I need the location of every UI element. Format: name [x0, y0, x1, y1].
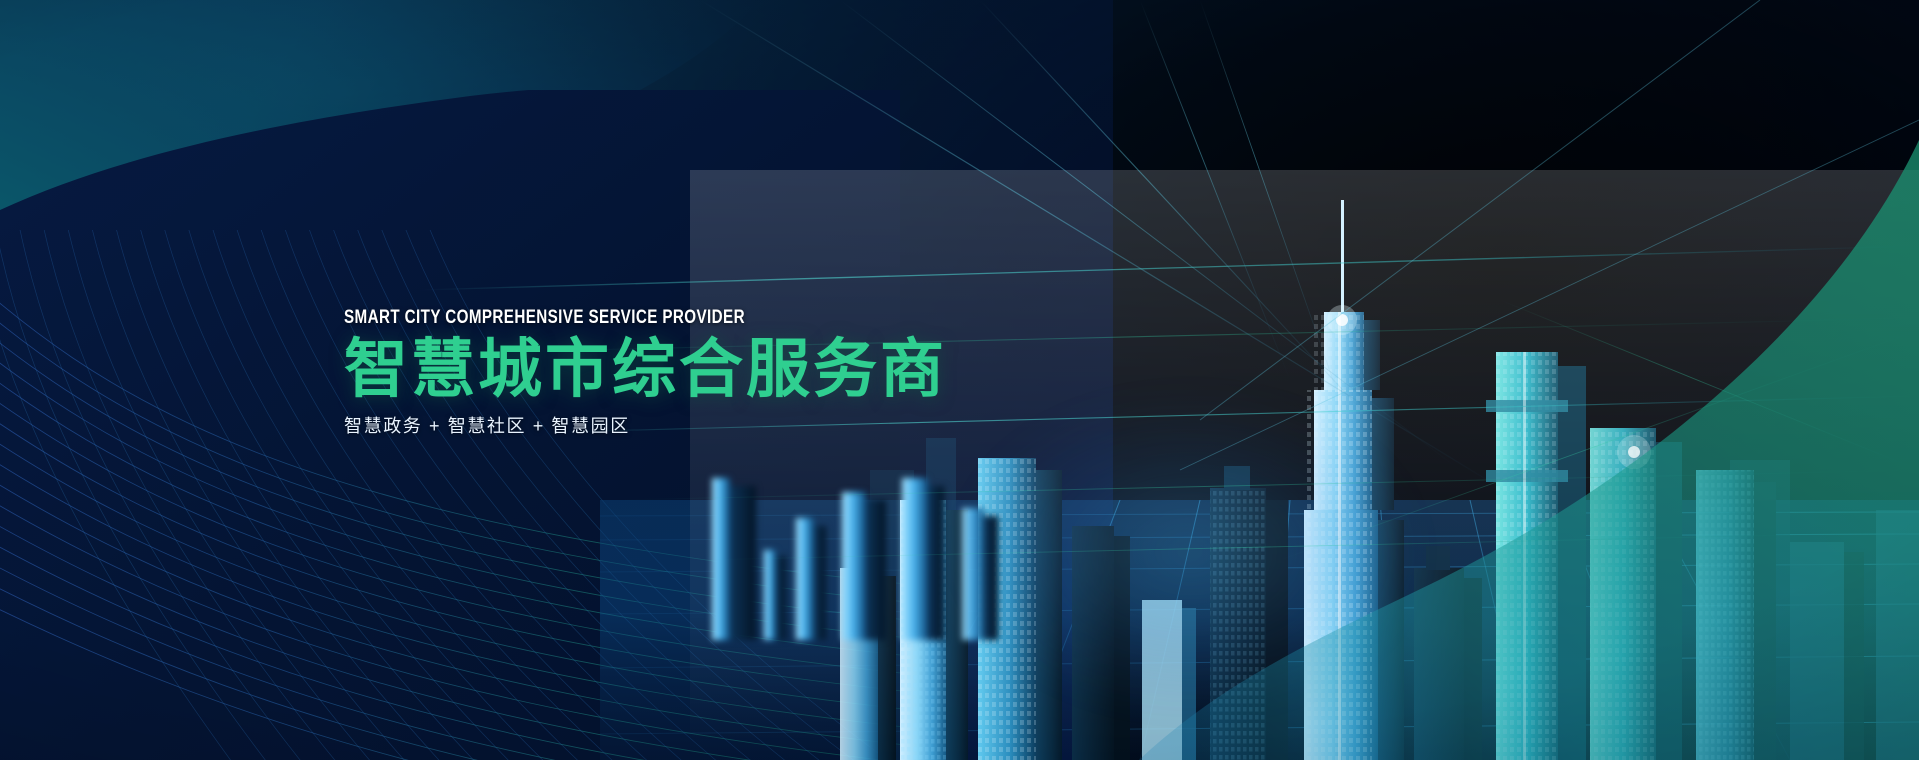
green-curved-overlay	[1139, 140, 1919, 760]
page-title: 智慧城市综合服务商	[344, 335, 1104, 404]
eyebrow-tagline: SMART CITY COMPREHENSIVE SERVICE PROVIDE…	[344, 308, 952, 329]
smart-city-hero-banner: SMART CITY COMPREHENSIVE SERVICE PROVIDE…	[0, 0, 1919, 760]
subtitle-services: 智慧政务 + 智慧社区 + 智慧园区	[344, 412, 1104, 438]
hero-text-block: SMART CITY COMPREHENSIVE SERVICE PROVIDE…	[344, 308, 1104, 438]
